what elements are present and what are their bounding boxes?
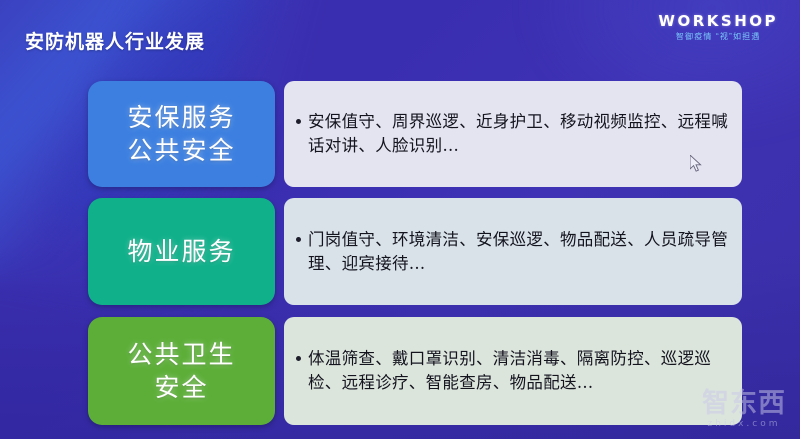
content-row: 安保服务 公共安全 安保值守、周界巡逻、近身护卫、移动视频监控、远程喊话对讲、人… (88, 81, 742, 187)
watermark: 智东西 zhidx.com (702, 390, 786, 429)
watermark-logo-text: 智东西 (702, 390, 786, 417)
category-card-label: 物业服务 (127, 235, 235, 269)
content-row: 公共卫生 安全 体温筛查、戴口罩识别、清洁消毒、隔离防控、巡逻巡检、远程诊疗、智… (88, 317, 742, 425)
slide-title: 安防机器人行业发展 (25, 27, 205, 54)
category-card-label-line2: 安全 (127, 371, 235, 405)
category-card-label-line1: 公共卫生 (127, 338, 235, 372)
bullet-dot-icon (296, 237, 301, 242)
bullet-dot-icon (296, 356, 301, 361)
presentation-slide: 安防机器人行业发展 WORKSHOP 智御疫情 “视”如担遇 安保服务 公共安全… (0, 0, 800, 439)
brand-subtitle: 智御疫情 “视”如担遇 (658, 33, 778, 41)
content-row: 物业服务 门岗值守、环境清洁、安保巡逻、物品配送、人员疏导管理、迎宾接待… (88, 198, 742, 305)
brand-logo: WORKSHOP 智御疫情 “视”如担遇 (658, 14, 778, 41)
category-card-label-line1: 安保服务 (127, 101, 235, 135)
detail-text: 安保值守、周界巡逻、近身护卫、移动视频监控、远程喊话对讲、人脸识别… (308, 110, 728, 158)
category-card-label: 安保服务 公共安全 (127, 101, 235, 168)
detail-panel-public-health-safety: 体温筛查、戴口罩识别、清洁消毒、隔离防控、巡逻巡检、远程诊疗、智能查房、物品配送… (284, 317, 742, 425)
bullet-dot-icon (296, 119, 301, 124)
bullet-line: 安保值守、周界巡逻、近身护卫、移动视频监控、远程喊话对讲、人脸识别… (296, 110, 728, 158)
detail-panel-security-service: 安保值守、周界巡逻、近身护卫、移动视频监控、远程喊话对讲、人脸识别… (284, 81, 742, 187)
brand-name: WORKSHOP (658, 14, 778, 29)
bullet-line: 门岗值守、环境清洁、安保巡逻、物品配送、人员疏导管理、迎宾接待… (296, 228, 728, 276)
detail-text: 门岗值守、环境清洁、安保巡逻、物品配送、人员疏导管理、迎宾接待… (308, 228, 728, 276)
bullet-line: 体温筛查、戴口罩识别、清洁消毒、隔离防控、巡逻巡检、远程诊疗、智能查房、物品配送… (296, 347, 728, 395)
category-card-label: 公共卫生 安全 (127, 338, 235, 405)
category-card-label-line1: 物业服务 (127, 235, 235, 269)
detail-panel-property-service: 门岗值守、环境清洁、安保巡逻、物品配送、人员疏导管理、迎宾接待… (284, 198, 742, 305)
category-card-property-service[interactable]: 物业服务 (88, 198, 275, 305)
watermark-url-text: zhidx.com (702, 420, 786, 429)
detail-text: 体温筛查、戴口罩识别、清洁消毒、隔离防控、巡逻巡检、远程诊疗、智能查房、物品配送… (308, 347, 728, 395)
category-card-label-line2: 公共安全 (127, 134, 235, 168)
category-card-security-service[interactable]: 安保服务 公共安全 (88, 81, 275, 187)
category-card-public-health-safety[interactable]: 公共卫生 安全 (88, 317, 275, 425)
